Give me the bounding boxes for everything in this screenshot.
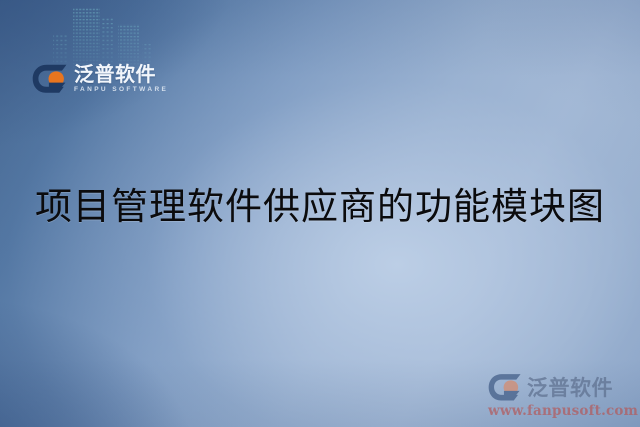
fanpu-swoosh-logo-icon: [488, 373, 522, 402]
watermark-brand-row: 泛普软件: [488, 372, 632, 402]
brand-name-cn: 泛普软件: [74, 64, 168, 84]
watermark-name-cn: 泛普软件: [527, 372, 613, 402]
slide-canvas: 泛普软件 FANPU SOFTWARE 项目管理软件供应商的功能模块图 泛普软件…: [0, 0, 640, 427]
fanpu-swoosh-logo-icon: [32, 64, 68, 94]
watermark: 泛普软件 www.fanpusoft.com: [488, 372, 632, 419]
brand-text-block: 泛普软件 FANPU SOFTWARE: [74, 64, 168, 94]
page-title: 项目管理软件供应商的功能模块图: [0, 186, 640, 229]
watermark-url: www.fanpusoft.com: [488, 403, 632, 419]
brand-name-en: FANPU SOFTWARE: [74, 87, 168, 94]
brand-lockup: 泛普软件 FANPU SOFTWARE: [32, 64, 168, 94]
